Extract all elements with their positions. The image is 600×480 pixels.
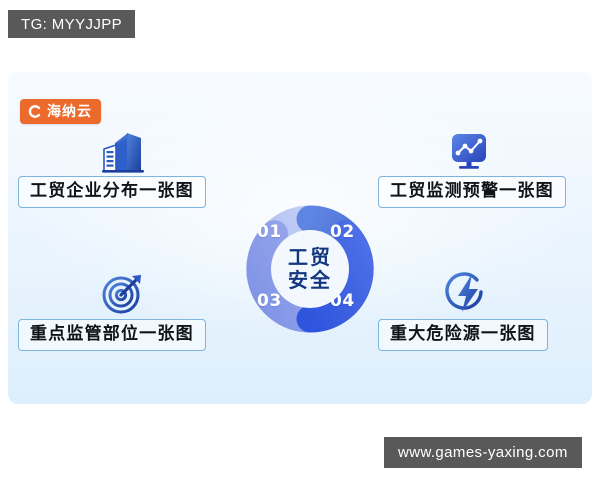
brand-name: 海纳云 (47, 105, 92, 119)
brand-badge: 海纳云 (20, 99, 101, 124)
factory-building-icon (94, 126, 152, 176)
center-line-2: 安全 (288, 270, 332, 292)
watermark-top-left: TG: MYYJJPP (8, 10, 135, 38)
center-donut-chart: 01 02 03 04 工贸 安全 (237, 196, 383, 342)
center-line-1: 工贸 (288, 247, 332, 269)
donut-center-label: 工贸 安全 (271, 230, 349, 308)
item-top-left[interactable]: 工贸企业分布一张图 (18, 126, 206, 208)
item-bottom-right[interactable]: 重大危险源一张图 (378, 269, 548, 351)
brand-c-mark-icon (27, 104, 42, 119)
item-label-bottom-left: 重点监管部位一张图 (18, 319, 206, 351)
segment-number-03: 03 (257, 291, 282, 311)
lightning-bolt-circle-icon (440, 269, 498, 319)
item-bottom-left[interactable]: 重点监管部位一张图 (18, 269, 206, 351)
watermark-bottom-right: www.games-yaxing.com (384, 437, 582, 468)
target-arrow-icon (94, 269, 152, 319)
item-label-bottom-right: 重大危险源一张图 (378, 319, 548, 351)
item-top-right[interactable]: 工贸监测预警一张图 (378, 126, 566, 208)
monitor-line-chart-icon (440, 126, 498, 176)
item-label-top-right: 工贸监测预警一张图 (378, 176, 566, 208)
segment-number-01: 01 (257, 222, 282, 242)
item-label-top-left: 工贸企业分布一张图 (18, 176, 206, 208)
